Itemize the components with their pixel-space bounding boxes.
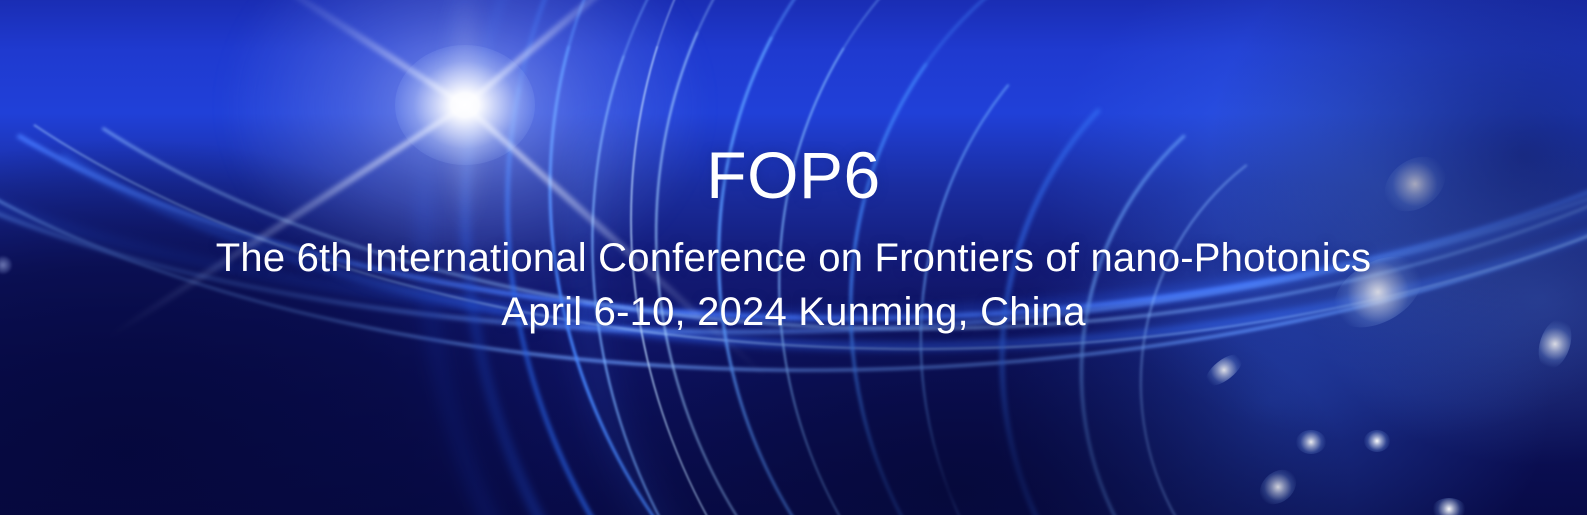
conference-date-location: April 6-10, 2024 Kunming, China (0, 292, 1587, 332)
glow-node-icon (1364, 430, 1390, 452)
conference-acronym: FOP6 (0, 142, 1587, 208)
conference-banner: FOP6 The 6th International Conference on… (0, 0, 1587, 515)
glow-node-icon (1432, 498, 1466, 515)
conference-title: The 6th International Conference on Fron… (0, 238, 1587, 278)
glow-node-icon (1296, 430, 1326, 454)
